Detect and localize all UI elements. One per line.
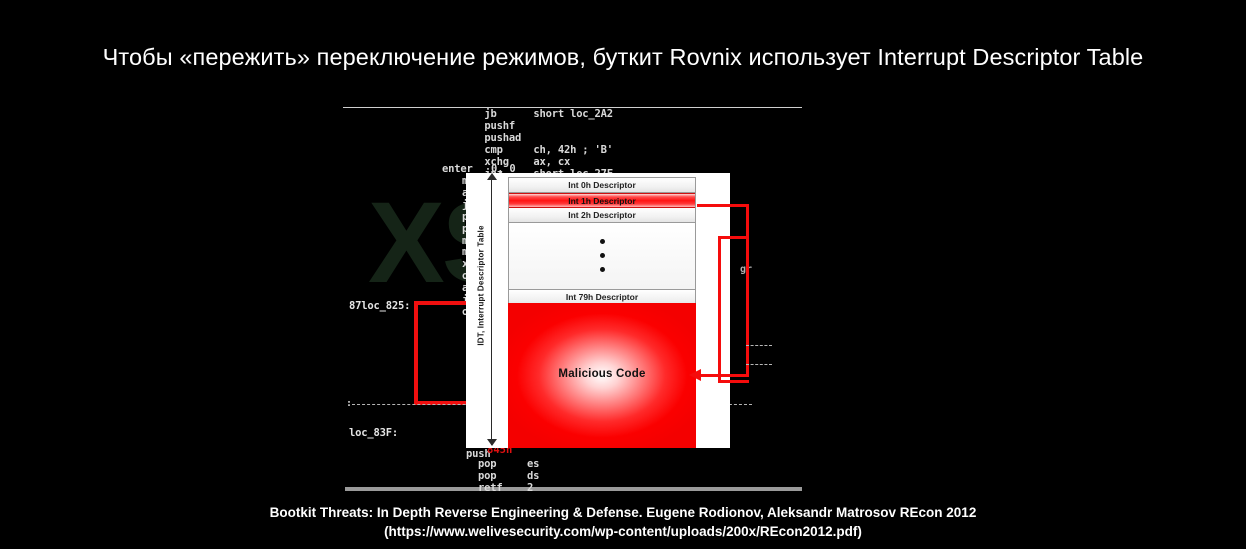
malicious-code-block: Malicious Code bbox=[508, 303, 696, 448]
rovnix-idt-diagram: XSS.is jb short loc_2A2 pushf pushad cmp… bbox=[0, 0, 1246, 549]
disassembly-pop-lines: pop es pop ds retf 2 bbox=[478, 459, 539, 495]
idt-row-int1h[interactable]: Int 1h Descriptor bbox=[509, 193, 695, 208]
idt-ellipsis-dot bbox=[600, 267, 605, 272]
idt-extent-arrow-up-icon bbox=[487, 173, 497, 180]
source-caption: Bootkit Threats: In Depth Reverse Engine… bbox=[0, 503, 1246, 541]
idt-row-int2h[interactable]: Int 2h Descriptor bbox=[509, 208, 695, 223]
arrow-secondary-vertical bbox=[718, 236, 721, 383]
arrow-secondary-top bbox=[718, 236, 746, 239]
idt-vertical-label: IDT, Interrupt Descriptor Table bbox=[477, 191, 486, 381]
idt-descriptor-table: Int 0h Descriptor Int 1h Descriptor Int … bbox=[508, 177, 696, 306]
code-separator-colon: : bbox=[346, 398, 352, 409]
arrow-int1h-segment-return bbox=[700, 374, 749, 377]
figure-bottom-rule bbox=[345, 487, 802, 491]
idt-ellipsis-dot bbox=[600, 239, 605, 244]
code-label-loc-83f: loc_83F: bbox=[349, 427, 398, 439]
arrow-head-left-icon bbox=[689, 369, 701, 381]
malicious-code-label: Malicious Code bbox=[508, 368, 696, 380]
dashed-marker-lower bbox=[746, 364, 772, 365]
arrow-int1h-segment-horizontal bbox=[697, 204, 749, 207]
caption-line-1: Bootkit Threats: In Depth Reverse Engine… bbox=[0, 503, 1246, 522]
idt-ellipsis bbox=[509, 223, 695, 290]
caption-line-2: (https://www.welivesecurity.com/wp-conte… bbox=[0, 522, 1246, 541]
dashed-marker-upper bbox=[746, 345, 772, 346]
idt-ellipsis-dot bbox=[600, 253, 605, 258]
arrow-int1h-segment-vertical bbox=[746, 204, 749, 376]
idt-extent-arrow-down-icon bbox=[487, 439, 497, 446]
idt-extent-line bbox=[491, 176, 492, 445]
code-label-loc-825: 87loc_825: bbox=[349, 300, 410, 312]
arrow-secondary-bottom bbox=[718, 380, 749, 383]
idt-row-int0h[interactable]: Int 0h Descriptor bbox=[509, 178, 695, 193]
